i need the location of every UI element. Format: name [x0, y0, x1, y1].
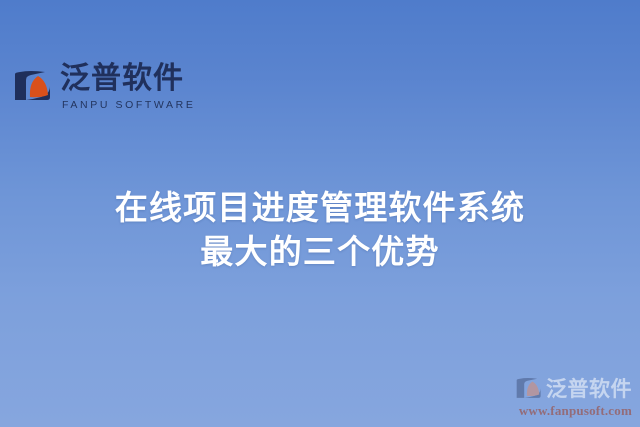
company-name-en: FANPU SOFTWARE: [62, 98, 195, 112]
title-line-1: 在线项目进度管理软件系统: [0, 186, 640, 230]
fanpu-logo-mark-icon: [516, 376, 542, 402]
page-title: 在线项目进度管理软件系统 最大的三个优势: [0, 186, 640, 274]
header-logo-wordmark: 泛普软件 FANPU SOFTWARE: [60, 62, 195, 112]
watermark-company-name: 泛普软件: [546, 377, 632, 401]
watermark-url: www.fanpusoft.com: [490, 403, 632, 419]
fanpu-logo-mark-icon: [14, 68, 52, 106]
header-logo: 泛普软件 FANPU SOFTWARE: [14, 62, 195, 112]
title-line-2: 最大的三个优势: [0, 230, 640, 274]
watermark: 泛普软件 www.fanpusoft.com: [490, 376, 632, 419]
watermark-logo-row: 泛普软件: [490, 376, 632, 402]
company-name-cn: 泛普软件: [60, 62, 195, 96]
banner-image: 泛普软件 FANPU SOFTWARE 在线项目进度管理软件系统 最大的三个优势…: [0, 0, 640, 427]
